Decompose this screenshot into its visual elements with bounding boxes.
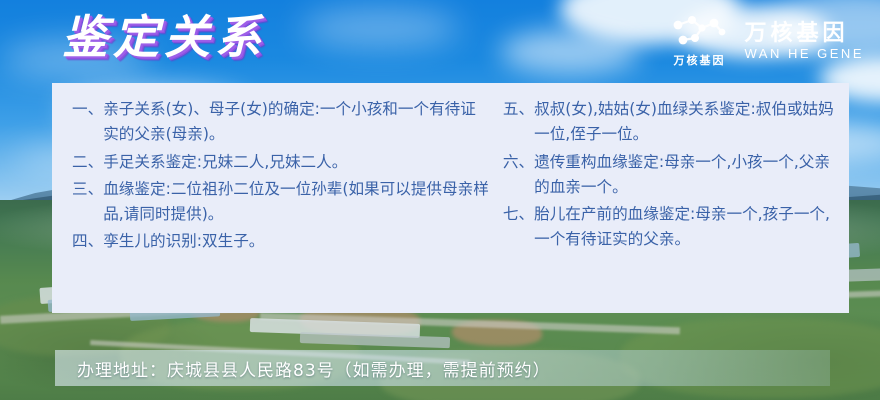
list-item-number: 四、 [72, 229, 103, 254]
list-item: 一、 亲子关系(女)、母子(女)的确定:一个小孩和一个有待证实的父亲(母亲)。 [72, 97, 491, 148]
list-item-text: 胎儿在产前的血缘鉴定:母亲一个,孩子一个,一个有待证实的父亲。 [534, 202, 839, 253]
molecule-dna-icon [669, 14, 731, 53]
list-item-text: 亲子关系(女)、母子(女)的确定:一个小孩和一个有待证实的父亲(母亲)。 [103, 97, 491, 148]
list-item-text: 手足关系鉴定:兄妹二人,兄妹二人。 [103, 150, 491, 175]
list-item-text: 血缘鉴定:二位祖孙二位及一位孙辈(如果可以提供母亲样品,请同时提供)。 [103, 177, 491, 228]
list-item-text: 遗传重构血缘鉴定:母亲一个,小孩一个,父亲的血亲一个。 [534, 150, 839, 201]
list-item: 四、 孪生儿的识别:双生子。 [72, 229, 491, 254]
address-text: 办理地址：庆城县县人民路83号（如需办理，需提前预约） [55, 356, 551, 381]
list-item: 二、 手足关系鉴定:兄妹二人,兄妹二人。 [72, 150, 491, 175]
company-name-cn: 万核基因 [745, 21, 864, 44]
list-item-number: 七、 [503, 202, 534, 253]
services-left-column: 一、 亲子关系(女)、母子(女)的确定:一个小孩和一个有待证实的父亲(母亲)。 … [62, 97, 495, 303]
promotional-banner: 鉴定关系 [0, 0, 880, 400]
address-bar: 办理地址：庆城县县人民路83号（如需办理，需提前预约） [55, 350, 830, 386]
brand-logo: 万核基因 万核基因 WAN HE GENE [669, 14, 864, 67]
list-item: 三、 血缘鉴定:二位祖孙二位及一位孙辈(如果可以提供母亲样品,请同时提供)。 [72, 177, 491, 228]
list-item-number: 五、 [503, 97, 534, 148]
list-item-number: 一、 [72, 97, 103, 148]
list-item-number: 六、 [503, 150, 534, 201]
list-item-number: 三、 [72, 177, 103, 228]
list-item: 六、 遗传重构血缘鉴定:母亲一个,小孩一个,父亲的血亲一个。 [503, 150, 839, 201]
list-item-text: 孪生儿的识别:双生子。 [103, 229, 491, 254]
logo-wordmark: 万核基因 WAN HE GENE [745, 21, 864, 59]
list-item-text: 叔叔(女),姑姑(女)血绿关系鉴定:叔伯或姑妈一位,侄子一位。 [534, 97, 839, 148]
services-panel: 一、 亲子关系(女)、母子(女)的确定:一个小孩和一个有待证实的父亲(母亲)。 … [52, 83, 849, 313]
list-item: 七、 胎儿在产前的血缘鉴定:母亲一个,孩子一个,一个有待证实的父亲。 [503, 202, 839, 253]
list-item-number: 二、 [72, 150, 103, 175]
services-right-column: 五、 叔叔(女),姑姑(女)血绿关系鉴定:叔伯或姑妈一位,侄子一位。 六、 遗传… [495, 97, 839, 303]
page-title: 鉴定关系 [62, 14, 266, 60]
logo-mark: 万核基因 [669, 14, 731, 67]
logo-mark-name: 万核基因 [674, 56, 726, 67]
company-name-en: WAN HE GENE [745, 47, 864, 60]
list-item: 五、 叔叔(女),姑姑(女)血绿关系鉴定:叔伯或姑妈一位,侄子一位。 [503, 97, 839, 148]
